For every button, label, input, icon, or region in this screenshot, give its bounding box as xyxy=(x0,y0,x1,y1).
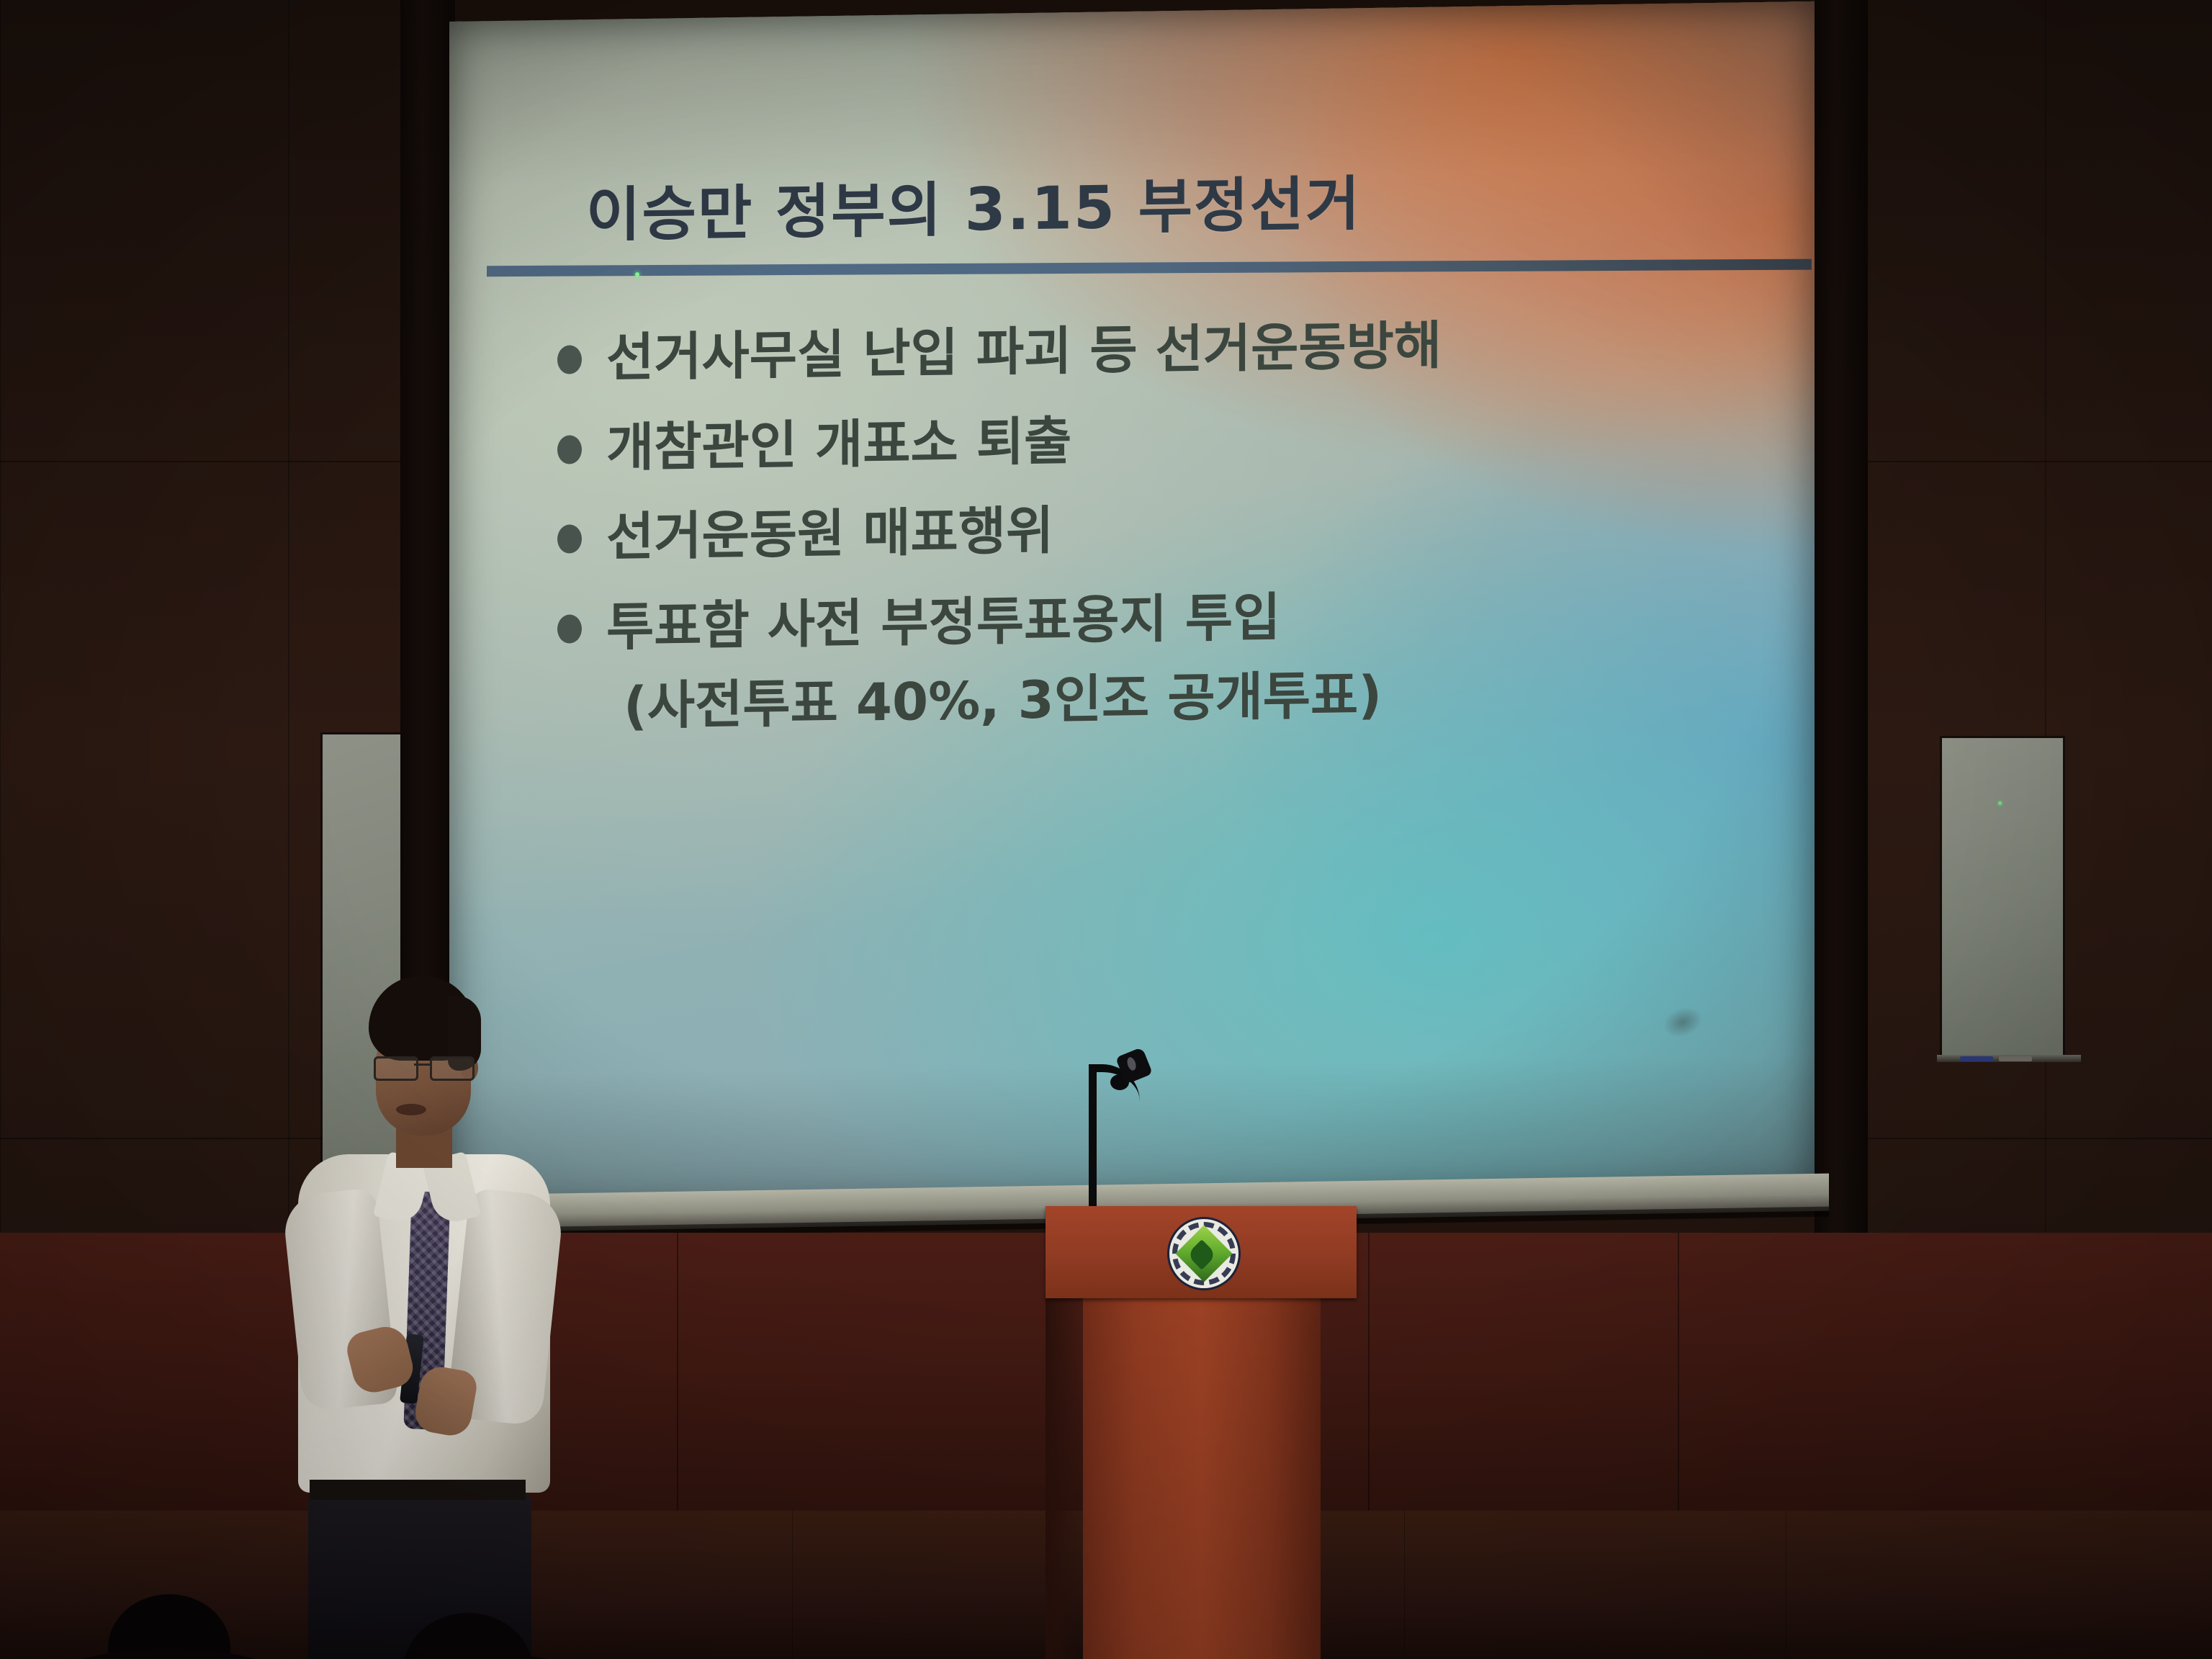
eyeglass-lens-left xyxy=(374,1056,418,1081)
slide-bullet-list: 선거사무실 난입 파괴 등 선거운동방해 개참관인 개표소 퇴출 선거운동원 매… xyxy=(557,311,1796,771)
gooseneck-microphone xyxy=(1089,1053,1175,1218)
floor-plank xyxy=(1404,1511,1405,1659)
bullet-dot-icon xyxy=(557,345,582,374)
laser-pointer-dot-icon xyxy=(635,272,639,276)
wall-pillar-right xyxy=(1815,0,1868,1238)
podium xyxy=(1046,1206,1357,1659)
institution-seal-icon xyxy=(1169,1219,1238,1288)
podium-side-shadow xyxy=(1046,1297,1084,1659)
laser-dot-icon xyxy=(1998,801,2002,805)
bullet-text: 투표함 사전 부정투표용지 투입 xyxy=(606,587,1382,657)
lower-wall-panel xyxy=(1678,1233,1982,1535)
whiteboard-right xyxy=(1942,738,2063,1055)
floor-plank xyxy=(1786,1511,1786,1659)
photograph-canvas: 이승만 정부의 3.15 부정선거 선거사무실 난입 파괴 등 선거운동방해 개… xyxy=(0,0,2212,1659)
bullet-text: 선거운동원 매표행위 xyxy=(606,502,1053,567)
bullet-dot-icon xyxy=(557,614,582,644)
podium-body xyxy=(1083,1297,1321,1659)
list-item: 투표함 사전 부정투표용지 투입 (사전투표 40%, 3인조 공개투표) xyxy=(557,580,1796,739)
presenter-mouth xyxy=(396,1104,426,1115)
presenter-belt xyxy=(310,1480,526,1500)
eyeglass-lens-right xyxy=(430,1056,475,1081)
bullet-dot-icon xyxy=(557,435,582,464)
eyeglasses-icon xyxy=(371,1056,479,1078)
list-item: 개참관인 개표소 퇴출 xyxy=(557,401,1796,477)
bullet-subtext: (사전투표 40%, 3인조 공개투표) xyxy=(624,652,1382,739)
slide-title: 이승만 정부의 3.15 부정선거 xyxy=(586,156,1361,253)
bullet-dot-icon xyxy=(557,525,582,554)
projection-screen: 이승만 정부의 3.15 부정선거 선거사무실 난입 파괴 등 선거운동방해 개… xyxy=(449,1,1815,1217)
bullet-text: 개참관인 개표소 퇴출 xyxy=(606,412,1071,477)
podium-front-panel xyxy=(1046,1206,1357,1298)
whiteboard-marker[interactable] xyxy=(1999,1056,2032,1061)
title-underline-rule xyxy=(487,259,1812,277)
list-item: 선거사무실 난입 파괴 등 선거운동방해 xyxy=(557,311,1796,387)
presenter xyxy=(288,976,576,1659)
bullet-text: 선거사무실 난입 파괴 등 선거운동방해 xyxy=(606,317,1442,387)
whiteboard-marker[interactable] xyxy=(1960,1056,1993,1061)
list-item: 선거운동원 매표행위 xyxy=(557,491,1796,567)
floor-plank xyxy=(792,1511,793,1659)
screen-smudge xyxy=(1659,1002,1707,1043)
eyeglass-bridge xyxy=(414,1064,431,1066)
lower-wall-panel xyxy=(1368,1233,1679,1535)
lower-wall-panel xyxy=(677,1233,1046,1535)
